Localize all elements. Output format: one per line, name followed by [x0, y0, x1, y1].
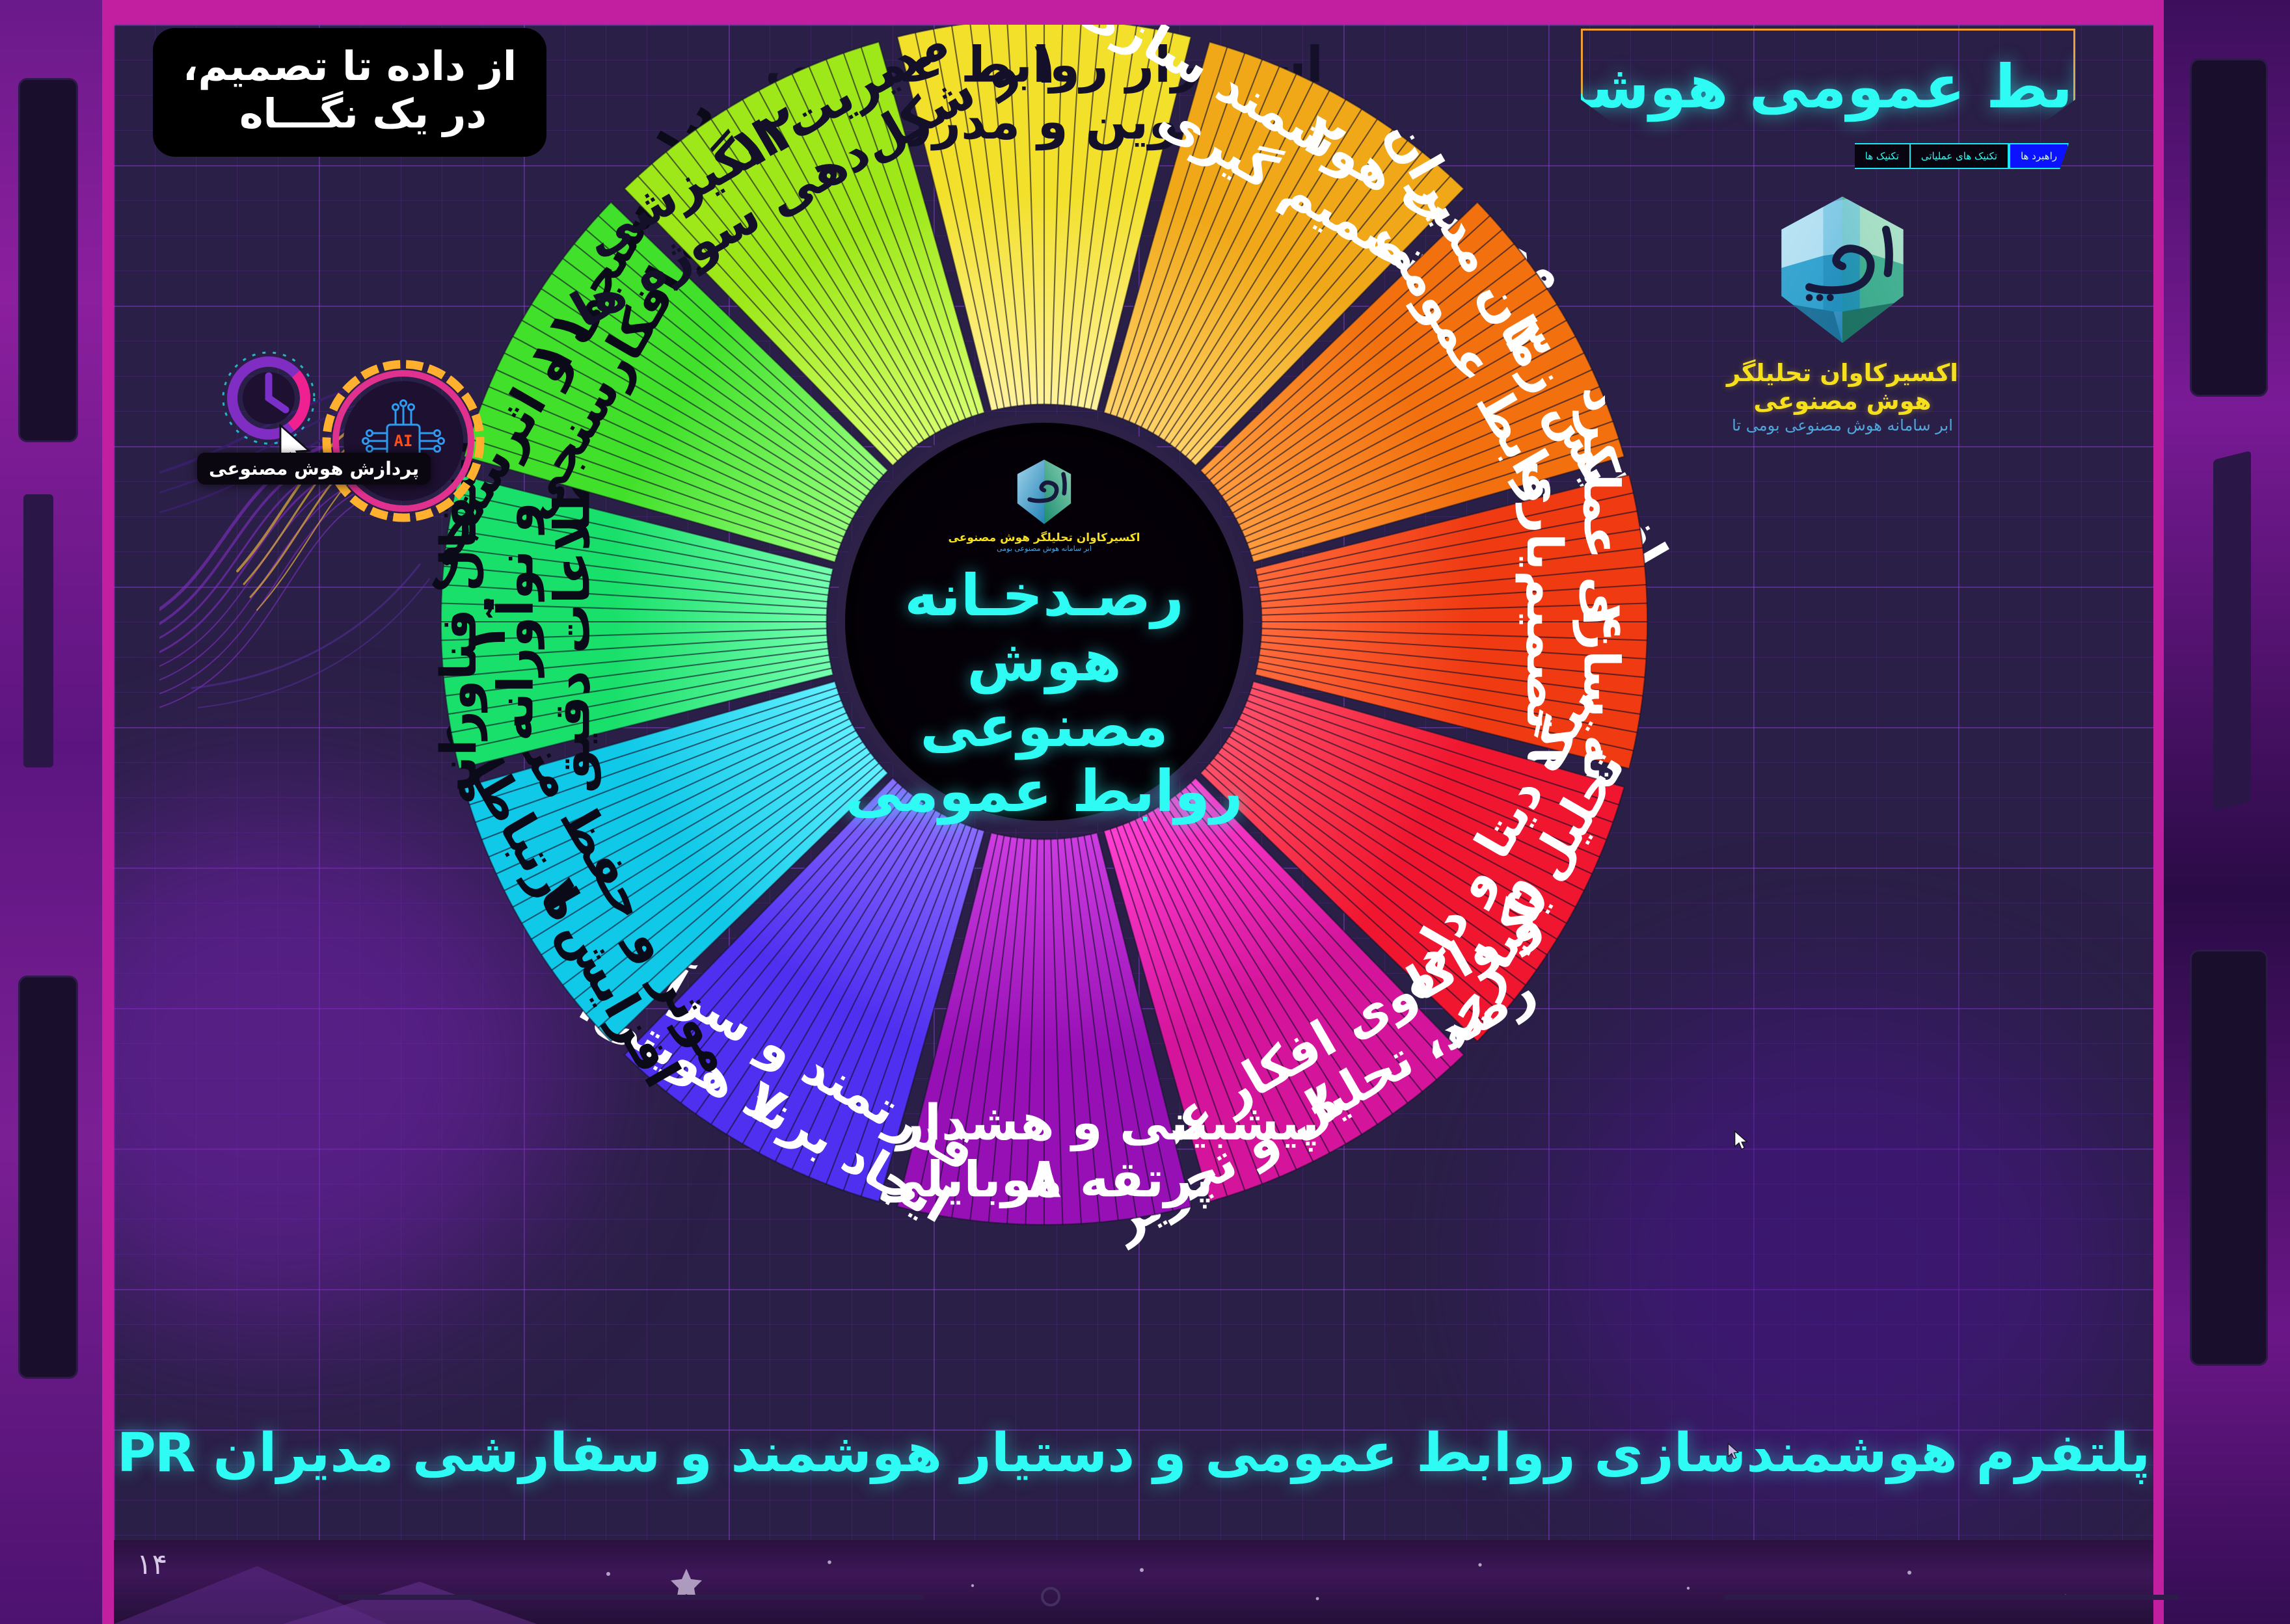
- ai-chip-label: AI: [394, 432, 413, 450]
- slogan-line-2: در یک نگـــاه: [183, 90, 517, 137]
- slogan-line-1: از داده تا تصمیم،: [183, 42, 517, 90]
- app-frame: از داده تا تصمیم، در یک نگـــاه روابط عم…: [0, 0, 2290, 1624]
- header-plate: روابط عمومی هوشمند: [1581, 29, 2075, 143]
- ai-process-tooltip: پردازش هوش مصنوعی: [197, 453, 431, 485]
- page-number: ۱۴: [137, 1548, 167, 1581]
- infographic-stage: از داده تا تصمیم، در یک نگـــاه روابط عم…: [114, 25, 2153, 1540]
- footer-divider-2: [1724, 1595, 2179, 1600]
- hub-logo-icon: [1006, 453, 1083, 529]
- right-frame-notch-2: [2190, 950, 2268, 1366]
- footer-divider: [338, 1595, 924, 1600]
- ai-network-illustration: AI پردازش هوش مصنوعی: [159, 285, 654, 740]
- footer-dot-icon: [1041, 1587, 1060, 1606]
- bottom-caption: پلتفرم هوشمندسازی روابط عمومی و دستیار ه…: [114, 1422, 2153, 1484]
- brand-name: اکسیرکاوان تحلیلگر هوش مصنوعی: [1706, 359, 1979, 415]
- left-frame-accent: [23, 494, 53, 767]
- page-title: روابط عمومی هوشمند: [1583, 31, 2073, 143]
- top-chrome-bar: [114, 0, 2290, 25]
- footer-strip: [114, 1540, 2153, 1624]
- right-frame-notch: [2190, 59, 2268, 397]
- mouse-cursor-tertiary-icon: [1727, 1443, 1742, 1463]
- mouse-cursor-secondary-icon: [1734, 1130, 1751, 1154]
- hub-title: رصـدخـانه هوش مصنوعی روابط عمومی: [845, 563, 1243, 824]
- hub-logo-name: اکسیرکاوان تحلیلگر هوش مصنوعی: [949, 531, 1140, 544]
- hub-title-line-2: هوش مصنوعی: [845, 628, 1243, 759]
- left-frame-notch-2: [18, 976, 78, 1379]
- header-tabs[interactable]: تکنیک هاتکنیک های عملیاتیراهبرد ها: [1855, 143, 2069, 169]
- header-tab-0[interactable]: تکنیک ها: [1855, 143, 1911, 169]
- brand-logo-block: اکسیرکاوان تحلیلگر هوش مصنوعی ابر سامانه…: [1706, 181, 1979, 434]
- header-tab-2[interactable]: راهبرد ها: [2009, 143, 2069, 169]
- wheel-hub: اکسیرکاوان تحلیلگر هوش مصنوعی ابر سامانه…: [836, 414, 1252, 830]
- brand-diamond-logo-icon: [1755, 181, 1930, 355]
- hub-title-line-1: رصـدخـانه: [845, 563, 1243, 628]
- left-frame-notch: [18, 78, 78, 442]
- hub-title-line-3: روابط عمومی: [845, 759, 1243, 824]
- header: روابط عمومی هوشمند تکنیک هاتکنیک های عمل…: [1581, 29, 2075, 143]
- header-tab-1[interactable]: تکنیک های عملیاتی: [1911, 143, 2009, 169]
- right-frame-accent: [2213, 451, 2251, 811]
- hub-logo-subtitle: ابر سامانه هوش مصنوعی بومی: [997, 544, 1092, 553]
- slogan-badge: از داده تا تصمیم، در یک نگـــاه: [153, 28, 546, 157]
- brand-subtitle: ابر سامانه هوش مصنوعی بومی تا: [1706, 416, 1979, 434]
